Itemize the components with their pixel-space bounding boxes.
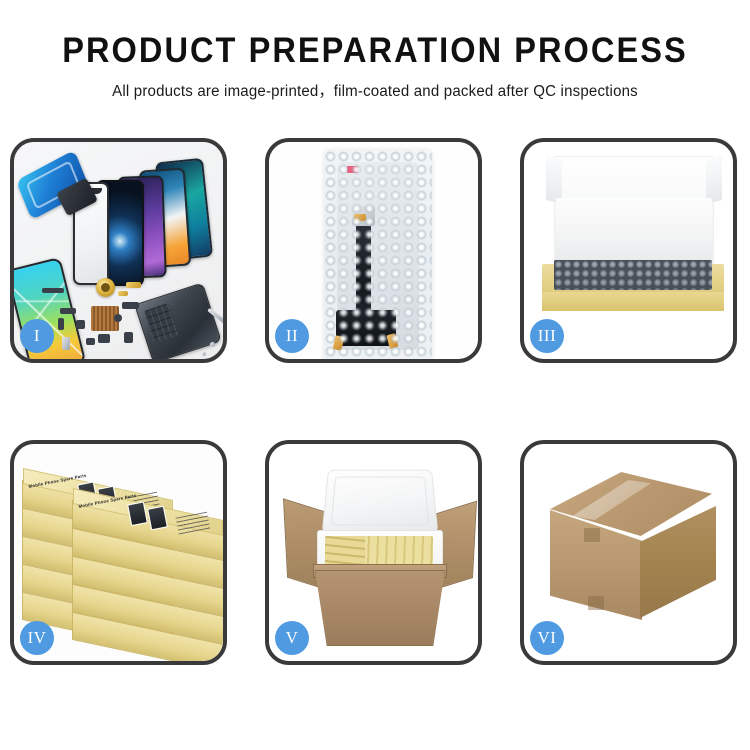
inner-box-lid-flap-right bbox=[706, 156, 722, 204]
small-part-camera-flex bbox=[122, 302, 139, 309]
gold-coil-part bbox=[96, 278, 115, 297]
bubble-wrapped-content bbox=[554, 260, 712, 290]
screw-3 bbox=[202, 352, 206, 356]
small-part-chip bbox=[76, 320, 85, 329]
small-part-mic bbox=[86, 338, 95, 345]
carton-handle-cutout-bottom bbox=[588, 596, 604, 610]
step-badge-2: II bbox=[275, 319, 309, 353]
inner-box-foam-sheet bbox=[556, 198, 712, 266]
process-step-6: VI bbox=[520, 440, 737, 665]
inner-box-tray-front bbox=[542, 292, 724, 311]
step-badge-4: IV bbox=[20, 621, 54, 655]
process-step-2: II bbox=[265, 138, 482, 363]
carton-handle-cutout-top bbox=[584, 528, 600, 542]
small-part-button bbox=[114, 314, 122, 322]
small-part-speaker bbox=[42, 288, 64, 293]
page-subtitle: All products are image-printed，film-coat… bbox=[11, 79, 739, 101]
small-part-connector-gold bbox=[118, 291, 128, 296]
process-step-4: Mobile Phone Spare Parts Mobile Phone Sp… bbox=[10, 440, 227, 665]
process-step-grid: I II bbox=[10, 138, 740, 665]
process-step-5: V bbox=[265, 440, 482, 665]
process-step-1: I bbox=[10, 138, 227, 363]
step-badge-5: V bbox=[275, 621, 309, 655]
page-title: PRODUCT PREPARATION PROCESS bbox=[26, 30, 724, 72]
pink-qc-label bbox=[347, 166, 358, 173]
inner-box-lid-flap-left bbox=[546, 156, 562, 204]
step-badge-6: VI bbox=[530, 621, 564, 655]
small-part-vibrator bbox=[98, 334, 110, 343]
foam-lid bbox=[322, 470, 439, 534]
small-part-bracket bbox=[60, 308, 76, 314]
small-part-battery-tab bbox=[124, 332, 133, 343]
gold-contact-top bbox=[354, 214, 366, 221]
screw-1 bbox=[210, 342, 215, 347]
small-part-sim-tray bbox=[62, 337, 70, 350]
step-badge-1: I bbox=[20, 319, 54, 353]
bubble-wrap-bag bbox=[324, 150, 432, 359]
small-part-flex-gold bbox=[126, 282, 141, 288]
page-header: PRODUCT PREPARATION PROCESS All products… bbox=[0, 0, 750, 101]
process-step-3: III bbox=[520, 138, 737, 363]
screw-2 bbox=[218, 350, 223, 355]
small-part-pin bbox=[58, 318, 64, 330]
step-badge-3: III bbox=[530, 319, 564, 353]
carton-body bbox=[315, 570, 445, 646]
